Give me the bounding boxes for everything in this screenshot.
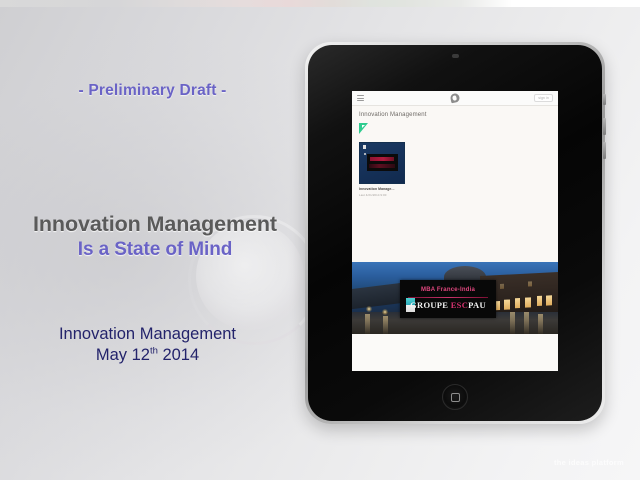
- thumbnail-dot: [364, 153, 366, 155]
- thumbnail-mark: [363, 145, 366, 149]
- card-subtitle: Last 4/21/2014 9:00: [359, 193, 405, 197]
- subtitle-date: May 12th 2014: [0, 345, 295, 366]
- app-content: Innovation Management Innovation Manage.…: [352, 106, 558, 197]
- tablet-power-button[interactable]: [603, 94, 606, 105]
- footer-watermark: the ideas platform: [554, 458, 624, 467]
- tablet-volume-down-button[interactable]: [603, 142, 606, 159]
- esc-pau-logo-plaque: MBA France-India GROUPE ESCPAU: [400, 280, 496, 318]
- subtitle-date-ordinal: th: [150, 346, 158, 357]
- front-camera-icon: [452, 54, 459, 58]
- headline-primary: Innovation Management: [0, 212, 310, 237]
- plaque-divider: [408, 297, 488, 298]
- subtitle-date-year: 2014: [158, 346, 199, 364]
- app-page-heading: Innovation Management: [359, 112, 551, 118]
- school-name-pau: PAU: [468, 300, 486, 310]
- school-name-groupe: GROUPE: [410, 300, 448, 310]
- subtitle-date-prefix: May 12: [96, 346, 150, 364]
- banner-reflection: [365, 314, 370, 334]
- preliminary-draft-label: - Preliminary Draft -: [0, 82, 305, 100]
- green-flag-icon[interactable]: [359, 123, 370, 135]
- banner-reflection: [383, 316, 388, 334]
- subtitle-course-name: Innovation Management: [0, 324, 295, 345]
- headline-secondary: Is a State of Mind: [0, 238, 310, 262]
- app-logo-icon[interactable]: [451, 94, 460, 103]
- thumbnail-banner: [367, 154, 398, 171]
- presentation-card[interactable]: Innovation Manage... Last 4/21/2014 9:00: [359, 142, 405, 197]
- home-button-square-icon: [451, 393, 460, 402]
- app-bottom-area: [352, 334, 558, 371]
- tablet-volume-up-button[interactable]: [603, 118, 606, 135]
- app-topbar: sign in: [352, 91, 558, 106]
- top-color-strip: [0, 0, 640, 7]
- tablet-screen[interactable]: sign in Innovation Management: [352, 91, 558, 371]
- hamburger-menu-icon[interactable]: [357, 95, 364, 101]
- school-name-esc: ESC: [451, 300, 468, 310]
- presentation-thumbnail[interactable]: [359, 142, 405, 184]
- mba-france-india-label: MBA France-India: [400, 287, 496, 293]
- card-title: Innovation Manage...: [359, 187, 405, 191]
- banner-lamp: [382, 309, 388, 315]
- slide-subtitle: Innovation Management May 12th 2014: [0, 324, 295, 366]
- banner-reflection: [524, 312, 529, 334]
- campus-night-photo[interactable]: MBA France-India GROUPE ESCPAU: [352, 262, 558, 334]
- banner-lamp: [366, 306, 372, 312]
- presentation-slide: - Preliminary Draft - Innovation Managem…: [0, 0, 640, 480]
- banner-reflection: [510, 312, 515, 334]
- school-name: GROUPE ESCPAU: [400, 300, 496, 310]
- banner-reflection: [538, 314, 543, 334]
- home-button[interactable]: [442, 384, 468, 410]
- slide-headline: Innovation Management Is a State of Mind: [0, 212, 310, 262]
- sign-in-button[interactable]: sign in: [534, 94, 553, 102]
- tablet-device: sign in Innovation Management: [305, 42, 605, 424]
